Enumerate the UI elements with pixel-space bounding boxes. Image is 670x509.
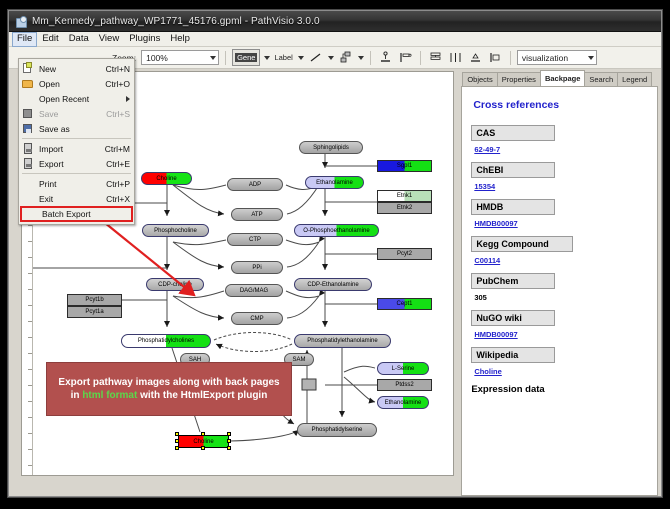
pathvisio-app-icon bbox=[14, 15, 27, 28]
menu-edit[interactable]: Edit bbox=[37, 32, 63, 47]
node-label: CDP-Ethanolamine bbox=[307, 282, 358, 288]
callout-highlight: html format bbox=[82, 390, 137, 401]
node-label: O-Phosphoethanolamine bbox=[303, 228, 369, 234]
node-cdp-choline[interactable]: CDP-choline bbox=[146, 278, 204, 291]
toolbar-separator-2 bbox=[370, 51, 371, 65]
align-top-icon bbox=[379, 51, 392, 64]
node-label: ADP bbox=[249, 182, 261, 188]
node-phosphatidylethanolamine[interactable]: Phosphatidylethanolamine bbox=[294, 334, 391, 348]
xref-name: HMDB bbox=[471, 199, 555, 215]
visualization-value: visualization bbox=[522, 53, 568, 63]
blank-icon bbox=[21, 92, 35, 105]
tab-properties[interactable]: Properties bbox=[497, 72, 541, 86]
menu-item-label: Save bbox=[39, 109, 106, 119]
node-ethanolamine-2[interactable]: Ethanolamine bbox=[377, 396, 429, 409]
node-label: Ethanolamine bbox=[385, 400, 422, 406]
node-sgpl1[interactable]: Sgpl1 bbox=[377, 160, 432, 172]
xref-chebi: ChEBI 15354 bbox=[471, 162, 648, 191]
menu-item-save-as[interactable]: Save as bbox=[19, 121, 134, 136]
node-phosphatidylserine[interactable]: Phosphatidylserine bbox=[297, 423, 377, 437]
shape-tool-icon bbox=[339, 51, 352, 64]
node-label: Phosphocholine bbox=[154, 228, 197, 234]
xref-kegg-compound: Kegg Compound C00114 bbox=[471, 236, 648, 265]
node-pcyt1a[interactable]: Pcyt1a bbox=[67, 306, 122, 318]
node-label: Phosphatidylcholines bbox=[138, 338, 194, 344]
selection-handle[interactable] bbox=[227, 432, 231, 436]
menu-item-new[interactable]: New Ctrl+N bbox=[19, 61, 134, 76]
blank-icon bbox=[21, 192, 35, 205]
node-label: Cept1 bbox=[396, 301, 412, 307]
panel-tab-row: Objects Properties Backpage Search Legen… bbox=[457, 71, 658, 86]
menu-item-open[interactable]: Open Ctrl+O bbox=[19, 76, 134, 91]
tab-legend[interactable]: Legend bbox=[617, 72, 652, 86]
shape-tool-button[interactable] bbox=[337, 49, 354, 66]
align-left-button[interactable] bbox=[397, 49, 414, 66]
menu-separator-2 bbox=[22, 173, 131, 174]
node-cmp[interactable]: CMP bbox=[231, 312, 283, 325]
node-label: DAG/MAG bbox=[240, 288, 268, 294]
shape-dropdown-icon[interactable] bbox=[358, 56, 364, 60]
line-tool-button[interactable] bbox=[307, 49, 324, 66]
blank-icon bbox=[21, 177, 35, 190]
tab-objects[interactable]: Objects bbox=[462, 72, 497, 86]
cross-references-title: Cross references bbox=[473, 99, 648, 111]
zoom-value: 100% bbox=[146, 53, 168, 63]
xref-nugo-wiki: NuGO wiki HMDB00097 bbox=[471, 310, 648, 339]
selection-handle[interactable] bbox=[201, 432, 205, 436]
toolbar-separator bbox=[225, 51, 226, 65]
node-ptdss2[interactable]: Ptdss2 bbox=[377, 379, 432, 391]
menu-item-label: Import bbox=[39, 144, 105, 154]
node-etnk1[interactable]: Etnk1 bbox=[377, 190, 432, 202]
open-folder-icon bbox=[21, 77, 35, 90]
xref-value-link[interactable]: Choline bbox=[474, 367, 648, 376]
chevron-down-icon bbox=[210, 56, 216, 60]
label-tool-button[interactable]: Label bbox=[273, 49, 293, 66]
menu-item-accel: Ctrl+S bbox=[106, 109, 130, 119]
menu-bar: File Edit Data View Plugins Help bbox=[9, 32, 661, 47]
visualization-chevron-down-icon bbox=[588, 56, 594, 60]
xref-cas: CAS 62-49-7 bbox=[471, 125, 648, 154]
menu-item-label: Exit bbox=[39, 194, 106, 204]
menu-view[interactable]: View bbox=[94, 32, 124, 47]
selection-handle[interactable] bbox=[201, 446, 205, 450]
node-ctp[interactable]: CTP bbox=[227, 233, 283, 246]
export-icon bbox=[21, 157, 35, 170]
selection-handle[interactable] bbox=[175, 432, 179, 436]
xref-pubchem: PubChem 305 bbox=[471, 273, 648, 302]
node-label: Pcyt1a bbox=[85, 309, 103, 315]
node-label: CDP-choline bbox=[158, 282, 192, 288]
node-label: Pcyt2 bbox=[397, 251, 412, 257]
stack-icon bbox=[429, 51, 442, 64]
distribute-icon bbox=[449, 51, 462, 64]
side-panel: Objects Properties Backpage Search Legen… bbox=[456, 69, 661, 497]
line-dropdown-icon[interactable] bbox=[328, 56, 334, 60]
node-etnk2[interactable]: Etnk2 bbox=[377, 202, 432, 214]
xref-value: 305 bbox=[474, 293, 648, 302]
xref-value-link[interactable]: 15354 bbox=[474, 182, 648, 191]
callout-text-after: with the HtmlExport plugin bbox=[137, 390, 267, 401]
node-ppi[interactable]: PPi bbox=[231, 261, 283, 274]
xref-name: ChEBI bbox=[471, 162, 555, 178]
menu-item-label: Open Recent bbox=[39, 94, 126, 104]
title-bar: Mm_Kennedy_pathway_WP1771_45176.gpml - P… bbox=[9, 11, 661, 32]
screenshot-root: Mm_Kennedy_pathway_WP1771_45176.gpml - P… bbox=[0, 0, 670, 509]
node-label: Choline bbox=[156, 176, 176, 182]
menu-file[interactable]: File bbox=[12, 32, 37, 47]
node-phosphocholine[interactable]: Phosphocholine bbox=[142, 224, 209, 237]
node-sphingolipids[interactable]: Sphingolipids bbox=[299, 141, 363, 154]
line-tool-icon bbox=[309, 51, 322, 64]
selection-handle[interactable] bbox=[227, 439, 231, 443]
node-cept1[interactable]: Cept1 bbox=[377, 298, 432, 310]
xref-name: NuGO wiki bbox=[471, 310, 555, 326]
menu-item-save: Save Ctrl+S bbox=[19, 106, 134, 121]
selection-handle[interactable] bbox=[175, 446, 179, 450]
node-ethanolamine-1[interactable]: Ethanolamine bbox=[305, 176, 364, 189]
visualization-combo[interactable]: visualization bbox=[517, 50, 597, 65]
xref-value-link[interactable]: HMDB00097 bbox=[474, 219, 648, 228]
menu-item-label: Save as bbox=[39, 124, 130, 134]
xref-name: CAS bbox=[471, 125, 555, 141]
node-pcyt2[interactable]: Pcyt2 bbox=[377, 248, 432, 260]
xref-value-link[interactable]: 62-49-7 bbox=[474, 145, 648, 154]
align-middle-icon bbox=[489, 51, 502, 64]
submenu-arrow-icon bbox=[126, 96, 130, 102]
node-label: PPi bbox=[252, 265, 261, 271]
node-label: Sphingolipids bbox=[313, 145, 349, 151]
new-document-icon bbox=[21, 62, 35, 75]
zoom-combo[interactable]: 100% bbox=[141, 50, 219, 65]
import-icon bbox=[21, 142, 35, 155]
datanode-dropdown-icon[interactable] bbox=[264, 56, 270, 60]
node-label: CTP bbox=[249, 237, 261, 243]
node-o-phosphoethanolamine[interactable]: O-Phosphoethanolamine bbox=[294, 224, 379, 237]
save-disk-icon bbox=[21, 107, 35, 120]
menu-item-label: Export bbox=[39, 159, 106, 169]
node-label: Pcyt1b bbox=[85, 297, 103, 303]
node-label: Phosphatidylserine bbox=[312, 427, 363, 433]
toolbar-separator-4 bbox=[510, 51, 511, 65]
menu-help[interactable]: Help bbox=[165, 32, 195, 47]
label-dropdown-icon[interactable] bbox=[298, 56, 304, 60]
align-center-icon bbox=[469, 51, 482, 64]
align-top-button[interactable] bbox=[377, 49, 394, 66]
align-middle-button[interactable] bbox=[487, 49, 504, 66]
node-label: SAM bbox=[292, 357, 305, 363]
application-window: Mm_Kennedy_pathway_WP1771_45176.gpml - P… bbox=[8, 10, 662, 497]
menu-item-label: Open bbox=[39, 79, 105, 89]
xref-name: Kegg Compound bbox=[471, 236, 573, 252]
node-label: Etnk2 bbox=[397, 205, 412, 211]
selection-handle[interactable] bbox=[227, 446, 231, 450]
xref-value-link[interactable]: HMDB00097 bbox=[474, 330, 648, 339]
node-label: L-Serine bbox=[392, 366, 415, 372]
tab-search[interactable]: Search bbox=[584, 72, 618, 86]
stack-button[interactable] bbox=[427, 49, 444, 66]
node-label: Ptdss2 bbox=[395, 382, 413, 388]
align-center-button[interactable] bbox=[467, 49, 484, 66]
xref-wikipedia: Wikipedia Choline bbox=[471, 347, 648, 376]
node-choline-top[interactable]: Choline bbox=[141, 172, 192, 185]
menu-separator bbox=[22, 138, 131, 139]
xref-name: PubChem bbox=[471, 273, 555, 289]
menu-item-accel: Ctrl+O bbox=[105, 79, 130, 89]
menu-item-export[interactable]: Export Ctrl+E bbox=[19, 156, 134, 171]
node-label: ATP bbox=[251, 212, 262, 218]
annotation-callout: Export pathway images along with back pa… bbox=[46, 362, 292, 416]
distribute-button[interactable] bbox=[447, 49, 464, 66]
node-label: Choline bbox=[193, 439, 213, 445]
node-label: Etnk1 bbox=[397, 193, 412, 199]
menu-item-batch-export[interactable]: Batch Export bbox=[20, 206, 133, 222]
file-menu-dropdown[interactable]: New Ctrl+N Open Ctrl+O Open Recent Save … bbox=[18, 58, 135, 225]
node-phosphatidylcholines[interactable]: Phosphatidylcholines bbox=[121, 334, 211, 348]
blank-icon bbox=[24, 208, 38, 221]
menu-item-accel: Ctrl+X bbox=[106, 194, 130, 204]
node-pcyt1b[interactable]: Pcyt1b bbox=[67, 294, 122, 306]
menu-item-label: Batch Export bbox=[42, 209, 127, 219]
node-cdp-ethanolamine[interactable]: CDP-Ethanolamine bbox=[294, 278, 372, 291]
node-label: Phosphatidylethanolamine bbox=[307, 338, 377, 344]
node-atp[interactable]: ATP bbox=[231, 208, 283, 221]
datanode-label: Gene bbox=[235, 53, 257, 62]
tab-backpage[interactable]: Backpage bbox=[540, 70, 585, 86]
label-tool-text: Label bbox=[274, 53, 292, 62]
menu-item-open-recent[interactable]: Open Recent bbox=[19, 91, 134, 106]
selection-handle[interactable] bbox=[175, 439, 179, 443]
menu-item-accel: Ctrl+E bbox=[106, 159, 130, 169]
menu-item-label: New bbox=[39, 64, 106, 74]
xref-value-link[interactable]: C00114 bbox=[474, 256, 648, 265]
align-left-icon bbox=[399, 51, 412, 64]
backpage-content: Cross references CAS 62-49-7 ChEBI 15354… bbox=[461, 86, 658, 496]
xref-name: Wikipedia bbox=[471, 347, 555, 363]
node-dag-mag[interactable]: DAG/MAG bbox=[225, 284, 283, 297]
menu-item-accel: Ctrl+M bbox=[105, 144, 130, 154]
node-label: Sgpl1 bbox=[397, 163, 412, 169]
menu-item-label: Print bbox=[39, 179, 106, 189]
menu-item-accel: Ctrl+P bbox=[106, 179, 130, 189]
menu-item-accel: Ctrl+N bbox=[106, 64, 130, 74]
save-as-disk-icon bbox=[21, 122, 35, 135]
node-label: Ethanolamine bbox=[316, 180, 353, 186]
toolbar-separator-3 bbox=[420, 51, 421, 65]
expression-data-title: Expression data bbox=[471, 384, 648, 395]
xref-hmdb: HMDB HMDB00097 bbox=[471, 199, 648, 228]
menu-item-import[interactable]: Import Ctrl+M bbox=[19, 141, 134, 156]
menu-plugins[interactable]: Plugins bbox=[124, 32, 165, 47]
node-label: CMP bbox=[250, 316, 263, 322]
datanode-tool-button[interactable]: Gene bbox=[232, 49, 260, 66]
node-l-serine[interactable]: L-Serine bbox=[377, 362, 429, 375]
window-title: Mm_Kennedy_pathway_WP1771_45176.gpml - P… bbox=[32, 16, 320, 27]
menu-item-print[interactable]: Print Ctrl+P bbox=[19, 176, 134, 191]
node-adp[interactable]: ADP bbox=[227, 178, 283, 191]
menu-data[interactable]: Data bbox=[64, 32, 94, 47]
menu-item-exit[interactable]: Exit Ctrl+X bbox=[19, 191, 134, 206]
